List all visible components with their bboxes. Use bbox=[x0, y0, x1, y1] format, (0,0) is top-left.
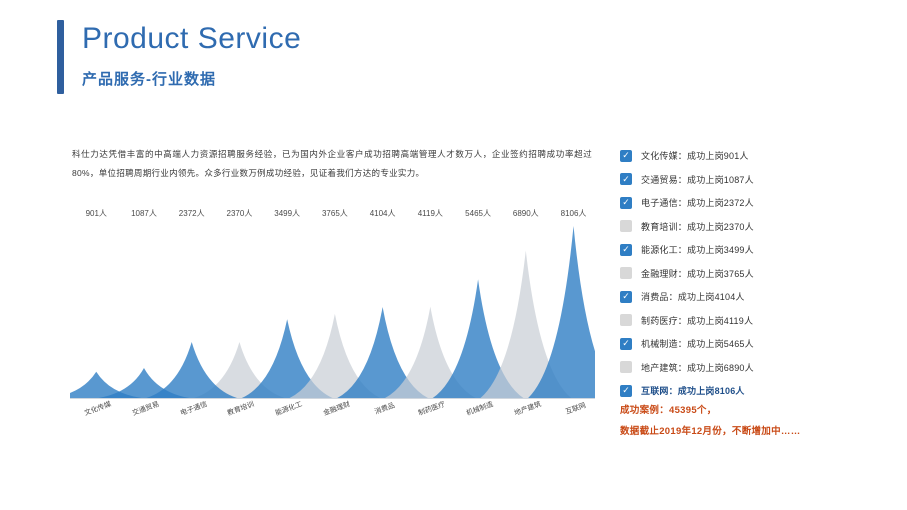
chart-value-label: 1087人 bbox=[131, 208, 157, 219]
note-cases: 成功案例：45395个， bbox=[620, 400, 890, 421]
legend-item[interactable]: ✓互联网：成功上岗8106人 bbox=[620, 379, 880, 403]
legend-item-label: 文化传媒：成功上岗901人 bbox=[641, 149, 749, 162]
legend-item-label: 能源化工：成功上岗3499人 bbox=[641, 243, 754, 256]
intro-paragraph: 科仕力达凭借丰富的中高端人力资源招聘服务经验，已为国内外企业客户成功招聘高端管理… bbox=[72, 145, 592, 183]
legend-item[interactable]: 教育培训：成功上岗2370人 bbox=[620, 215, 880, 239]
checkbox-unchecked-icon[interactable] bbox=[620, 361, 632, 373]
chart-category-label: 制药医疗 bbox=[417, 399, 447, 418]
chart-value-label: 901人 bbox=[86, 208, 107, 219]
legend-item[interactable]: ✓机械制造：成功上岗5465人 bbox=[620, 332, 880, 356]
checkbox-checked-icon[interactable]: ✓ bbox=[620, 150, 632, 162]
header-accent-bar bbox=[57, 20, 64, 94]
legend-item[interactable]: ✓能源化工：成功上岗3499人 bbox=[620, 238, 880, 262]
legend-item-label: 机械制造：成功上岗5465人 bbox=[641, 337, 754, 350]
legend-item[interactable]: ✓电子通信：成功上岗2372人 bbox=[620, 191, 880, 215]
legend-item-label: 教育培训：成功上岗2370人 bbox=[641, 220, 754, 233]
legend-item[interactable]: 制药医疗：成功上岗4119人 bbox=[620, 309, 880, 333]
page-title-cn: 产品服务-行业数据 bbox=[82, 68, 301, 89]
checkbox-checked-icon[interactable]: ✓ bbox=[620, 173, 632, 185]
chart-value-label: 3499人 bbox=[274, 208, 300, 219]
peak-chart: 901人1087人2372人2370人3499人3765人4104人4119人5… bbox=[70, 208, 595, 413]
slide: Product Service 产品服务-行业数据 科仕力达凭借丰富的中高端人力… bbox=[0, 0, 907, 510]
footer-notes: 成功案例：45395个， 数据截止2019年12月份，不断增加中…… bbox=[620, 400, 890, 442]
page-title-en: Product Service bbox=[82, 20, 301, 58]
slide-header: Product Service 产品服务-行业数据 bbox=[57, 20, 301, 94]
chart-peaks bbox=[70, 226, 595, 398]
chart-category-label: 消费品 bbox=[373, 400, 396, 417]
chart-peaks-svg bbox=[70, 226, 595, 398]
chart-axis-line bbox=[70, 398, 595, 399]
note-updated: 数据截止2019年12月份，不断增加中…… bbox=[620, 421, 890, 442]
legend-item[interactable]: ✓消费品：成功上岗4104人 bbox=[620, 285, 880, 309]
checkbox-checked-icon[interactable]: ✓ bbox=[620, 385, 632, 397]
checkbox-unchecked-icon[interactable] bbox=[620, 314, 632, 326]
chart-value-label: 2372人 bbox=[179, 208, 205, 219]
chart-category-label: 地产建筑 bbox=[513, 399, 543, 418]
legend-item[interactable]: 金融理财：成功上岗3765人 bbox=[620, 262, 880, 286]
chart-value-label: 3765人 bbox=[322, 208, 348, 219]
legend-item-label: 地产建筑：成功上岗6890人 bbox=[641, 361, 754, 374]
legend-item-label: 消费品：成功上岗4104人 bbox=[641, 290, 745, 303]
checkbox-checked-icon[interactable]: ✓ bbox=[620, 197, 632, 209]
chart-value-label: 4119人 bbox=[418, 208, 443, 219]
checkbox-unchecked-icon[interactable] bbox=[620, 220, 632, 232]
chart-value-label: 2370人 bbox=[227, 208, 253, 219]
legend-item-label: 金融理财：成功上岗3765人 bbox=[641, 267, 754, 280]
chart-category-label: 金融理财 bbox=[322, 399, 352, 418]
chart-category-label: 电子通信 bbox=[179, 399, 209, 418]
chart-value-label: 5465人 bbox=[465, 208, 491, 219]
chart-category-label: 能源化工 bbox=[274, 399, 304, 418]
legend-item[interactable]: ✓交通贸易：成功上岗1087人 bbox=[620, 168, 880, 192]
header-text-group: Product Service 产品服务-行业数据 bbox=[82, 20, 301, 89]
checkbox-checked-icon[interactable]: ✓ bbox=[620, 244, 632, 256]
chart-value-labels: 901人1087人2372人2370人3499人3765人4104人4119人5… bbox=[70, 208, 595, 228]
chart-category-labels: 文化传媒交通贸易电子通信教育培训能源化工金融理财消费品制药医疗机械制造地产建筑互… bbox=[70, 404, 595, 434]
chart-category-label: 机械制造 bbox=[465, 399, 495, 418]
legend-item[interactable]: ✓文化传媒：成功上岗901人 bbox=[620, 144, 880, 168]
checkbox-checked-icon[interactable]: ✓ bbox=[620, 291, 632, 303]
chart-category-label: 教育培训 bbox=[226, 399, 256, 418]
chart-value-label: 4104人 bbox=[370, 208, 396, 219]
chart-value-label: 6890人 bbox=[513, 208, 539, 219]
chart-legend: ✓文化传媒：成功上岗901人✓交通贸易：成功上岗1087人✓电子通信：成功上岗2… bbox=[620, 144, 880, 403]
legend-item[interactable]: 地产建筑：成功上岗6890人 bbox=[620, 356, 880, 380]
legend-item-label: 电子通信：成功上岗2372人 bbox=[641, 196, 754, 209]
legend-item-label: 制药医疗：成功上岗4119人 bbox=[641, 314, 753, 327]
legend-item-label: 交通贸易：成功上岗1087人 bbox=[641, 173, 754, 186]
checkbox-unchecked-icon[interactable] bbox=[620, 267, 632, 279]
chart-category-label: 互联网 bbox=[564, 400, 587, 417]
chart-value-label: 8106人 bbox=[561, 208, 587, 219]
legend-item-label: 互联网：成功上岗8106人 bbox=[641, 384, 745, 397]
chart-category-label: 文化传媒 bbox=[83, 399, 113, 418]
chart-category-label: 交通贸易 bbox=[131, 399, 161, 418]
checkbox-checked-icon[interactable]: ✓ bbox=[620, 338, 632, 350]
